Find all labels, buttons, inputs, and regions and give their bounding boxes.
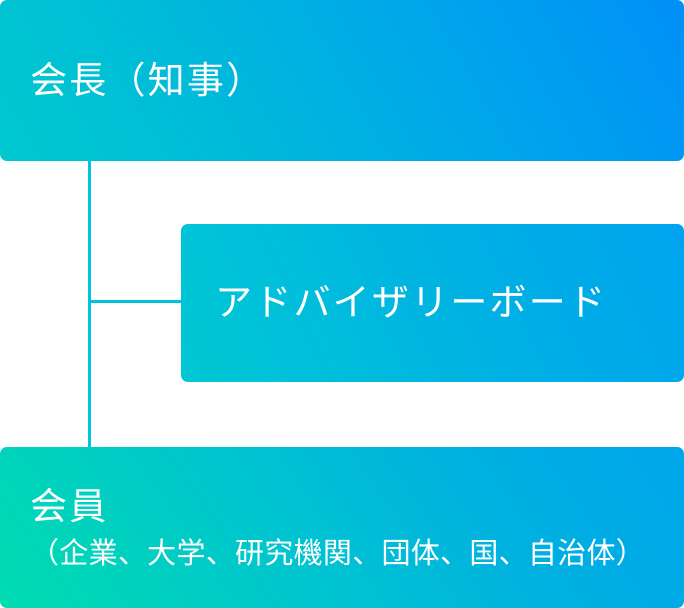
org-chart-diagram: 会長（知事） アドバイザリーボード 会員 （企業、大学、研究機関、団体、国、自治… [0, 0, 684, 608]
connector-line-horizontal-advisory [88, 300, 183, 303]
connector-line-vertical [88, 160, 91, 448]
node-advisory-board: アドバイザリーボード [181, 224, 684, 382]
node-members: 会員 （企業、大学、研究機関、団体、国、自治体） [0, 447, 684, 608]
node-chairman: 会長（知事） [0, 0, 684, 161]
node-advisory-board-title: アドバイザリーボード [215, 278, 684, 328]
node-members-subtitle: （企業、大学、研究機関、団体、国、自治体） [30, 536, 684, 574]
node-chairman-title: 会長（知事） [30, 56, 684, 106]
node-members-title: 会員 [30, 482, 684, 532]
